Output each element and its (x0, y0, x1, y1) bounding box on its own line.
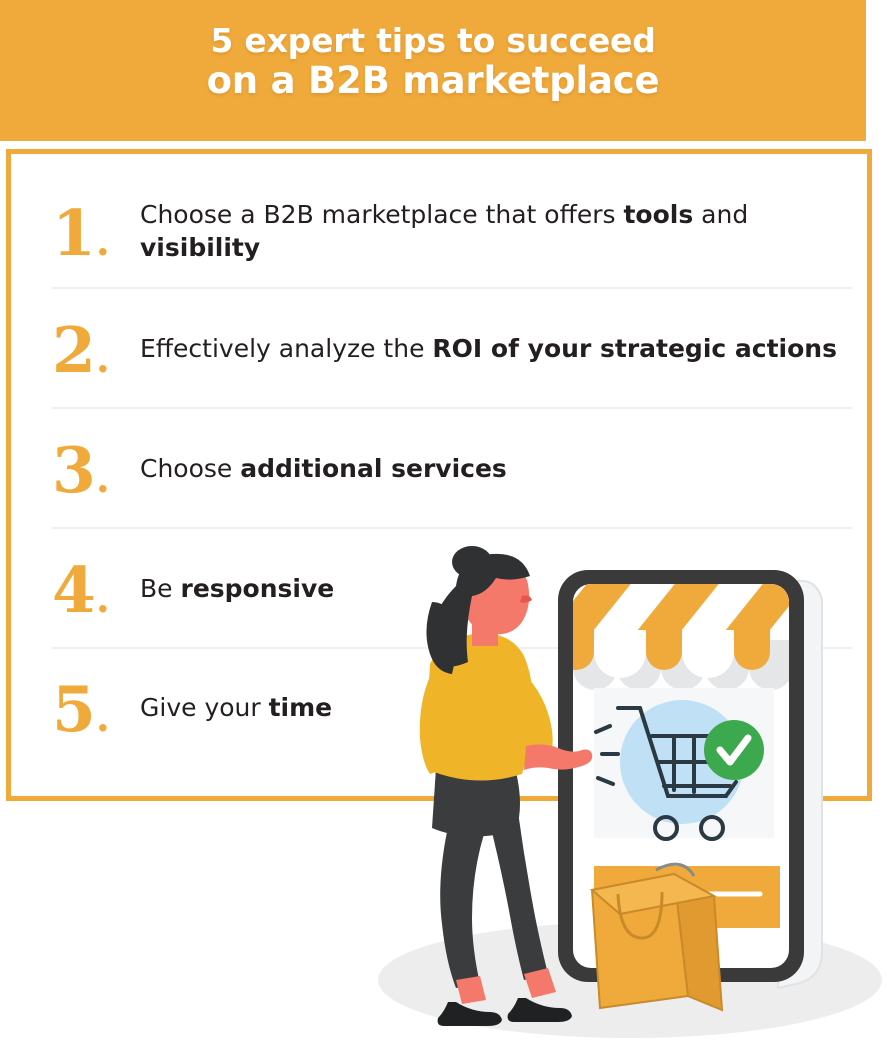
tip-number: 3. (52, 435, 140, 502)
tip-number-dot: . (96, 694, 110, 741)
tip-number: 4. (52, 555, 140, 622)
tip-number-dot: . (96, 218, 110, 265)
tip-text-bold-2: visibility (140, 233, 260, 262)
tip-number-dot: . (96, 335, 110, 382)
page-title: 5 expert tips to succeed on a B2B market… (0, 24, 866, 99)
tip-text-before: Choose (140, 454, 240, 483)
tip-number-dot: . (96, 575, 110, 622)
header-band: 5 expert tips to succeed on a B2B market… (0, 0, 866, 141)
tip-number-value: 3 (52, 433, 96, 507)
title-line-2: on a B2B marketplace (0, 62, 866, 99)
ground-shadow (378, 922, 882, 1038)
tip-number-value: 5 (52, 672, 96, 746)
tip-text-before: Choose a B2B marketplace that offers (140, 200, 623, 229)
tip-number-value: 1 (52, 196, 96, 270)
infographic-root: 5 expert tips to succeed on a B2B market… (0, 0, 887, 1055)
list-item: 1. Choose a B2B marketplace that offers … (52, 175, 852, 287)
tip-text-before: Be (140, 574, 180, 603)
list-item: 3. Choose additional services (52, 407, 852, 527)
bag-top (592, 874, 714, 914)
tip-number: 5. (52, 674, 140, 741)
tip-number-value: 2 (52, 313, 96, 387)
tip-text: Be responsive (140, 572, 852, 605)
bag-front (592, 874, 688, 1008)
tip-number-value: 4 (52, 553, 96, 627)
title-line-1: 5 expert tips to succeed (0, 24, 866, 57)
shopping-bag-icon (592, 864, 722, 1010)
tip-text-bold-1: tools (623, 200, 693, 229)
tip-text-bold-1: time (269, 693, 333, 722)
tip-text: Give your time (140, 691, 852, 724)
tips-list: 1. Choose a B2B marketplace that offers … (52, 175, 852, 765)
ankle-front (524, 968, 556, 998)
tip-number: 2. (52, 315, 140, 382)
tip-text-before: Effectively analyze the (140, 334, 432, 363)
list-item: 5. Give your time (52, 647, 852, 765)
tip-text-bold-1: responsive (180, 574, 334, 603)
leg-back (440, 818, 484, 988)
bag-handle-back (656, 864, 694, 876)
tip-text-middle: and (693, 200, 748, 229)
cta-button[interactable] (594, 866, 780, 928)
tip-text-bold-1: ROI of your strategic actions (432, 334, 837, 363)
tip-number-dot: . (96, 455, 110, 502)
bag-handle (618, 892, 662, 938)
shoe-back (438, 1002, 502, 1026)
list-item: 2. Effectively analyze the ROI of your s… (52, 287, 852, 407)
tip-text: Effectively analyze the ROI of your stra… (140, 332, 852, 365)
list-item: 4. Be responsive (52, 527, 852, 647)
tip-text-before: Give your (140, 693, 269, 722)
ankle-back (456, 976, 486, 1004)
tip-text: Choose additional services (140, 452, 852, 485)
leg-front (488, 812, 548, 980)
tip-text-bold-1: additional services (240, 454, 507, 483)
shoe-front (508, 998, 572, 1022)
tip-text: Choose a B2B marketplace that offers too… (140, 198, 852, 264)
bag-side (674, 874, 722, 1010)
tip-number: 1. (52, 198, 140, 265)
